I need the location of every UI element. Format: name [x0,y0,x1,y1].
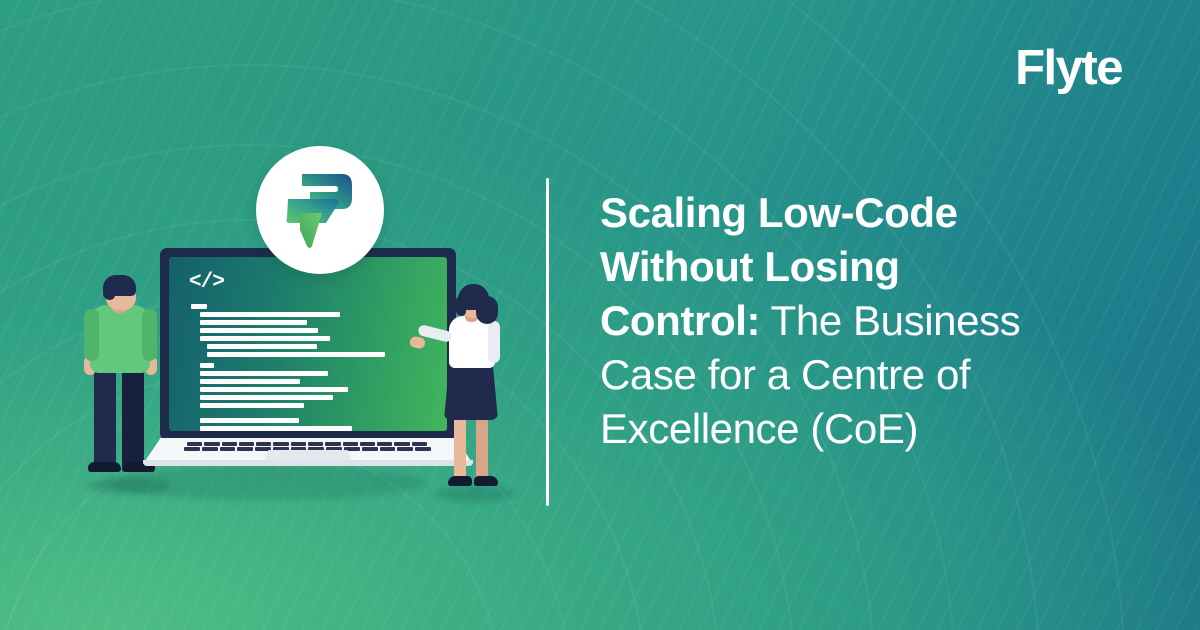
headline-line: Without Losing [600,240,1160,294]
code-tag-icon: </> [189,271,224,294]
headline-line-text: Control: [600,297,760,344]
headline-line-text: Without Losing [600,243,900,290]
code-line [200,371,328,376]
headline-line: Case for a Centre of [600,348,1160,402]
man-leg-right [122,364,144,468]
headline-line-text: Scaling Low-Code [600,189,958,236]
man-sweater [90,305,150,373]
hero-illustration: </> [0,0,546,630]
woman-arm-right [488,321,500,363]
man-leg-left [94,364,116,468]
code-line [200,328,318,333]
woman-hair-side [456,296,466,316]
woman-shoe-right [474,476,498,486]
headline-line: Scaling Low-Code [600,186,1160,240]
headline-line: Excellence (CoE) [600,402,1160,456]
man-sleeve-right [142,309,157,361]
man-sideburn [103,284,115,300]
power-platform-badge [256,146,384,274]
laptop: </> [160,248,456,463]
code-line [200,426,352,431]
code-line [200,387,348,392]
headline-line: Control: The Business [600,294,1160,348]
code-line [200,418,299,423]
code-line [191,304,207,309]
vertical-rule [546,178,549,506]
woman-leg-right [476,414,488,480]
laptop-screen: </> [169,257,447,431]
social-card-canvas: Flyte [0,0,1200,630]
code-line [200,336,330,341]
woman-leg-left [454,414,466,480]
man-sleeve-left [84,309,99,361]
code-line [200,363,214,368]
code-line [207,352,385,357]
code-line [200,403,304,408]
woman-shoe-left [448,476,472,486]
code-line [200,379,300,384]
code-line [207,344,317,349]
code-line [200,395,333,400]
code-line [200,320,307,325]
woman-pointing [432,288,516,500]
woman-hair-bun [476,296,498,324]
headline-line-rest: The Business [760,297,1020,344]
keyboard-row [187,442,427,446]
code-line [200,312,340,317]
flyte-logo-wordmark[interactable]: Flyte [1015,44,1122,93]
laptop-base-edge [143,460,473,466]
power-platform-p-logo [280,168,360,252]
woman-skirt [444,362,498,420]
headline-line-text: Excellence (CoE) [600,405,918,452]
headline-line-text: Case for a Centre of [600,351,970,398]
man-shoe-left [88,462,121,472]
page-title: Scaling Low-Code Without Losing Control:… [600,186,1160,456]
